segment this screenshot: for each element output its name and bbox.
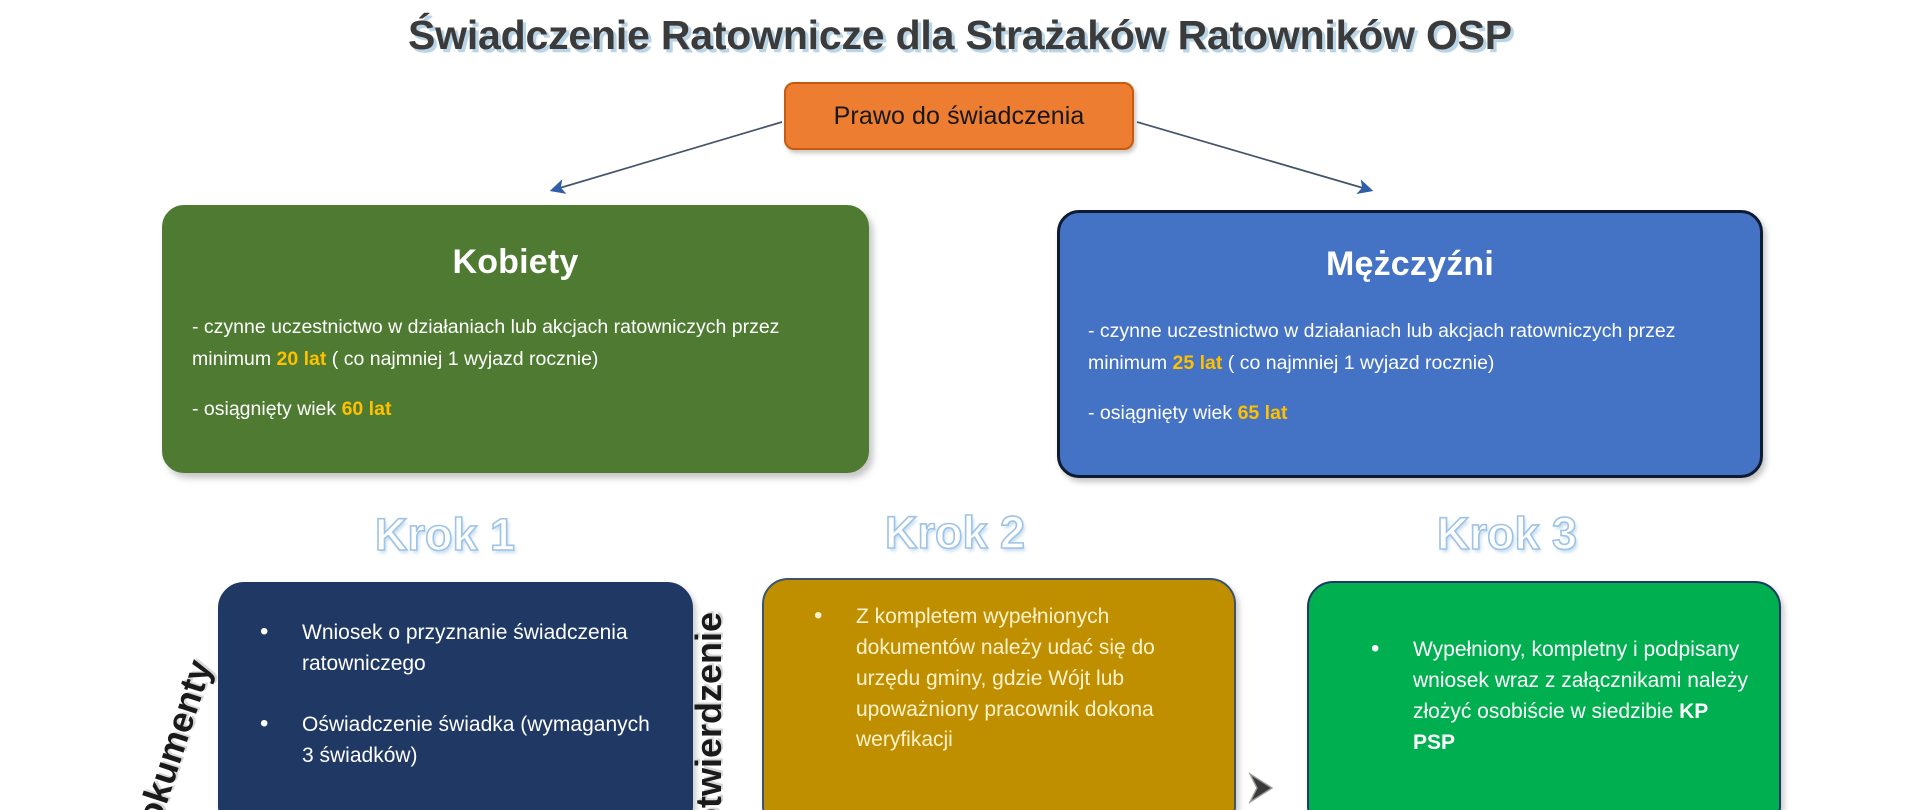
years-highlight: 25 lat [1173, 352, 1223, 374]
step-label-3: Krok 3 [1437, 508, 1577, 560]
card-men-requirement-age: - osiągnięty wiek 65 lat [1088, 398, 1732, 430]
card-women[interactable]: Kobiety - czynne uczestnictwo w działani… [162, 205, 869, 473]
list-item: Z kompletem wypełnionych dokumentów nale… [814, 602, 1208, 756]
step-card-2[interactable]: Z kompletem wypełnionych dokumentów nale… [762, 578, 1236, 810]
step-label-1: Krok 1 [375, 509, 515, 561]
arrow-to-women [553, 122, 782, 190]
list-item-text: Oświadczenie świadka (wymaganych 3 świad… [302, 713, 650, 767]
right-to-benefit-label: Prawo do świadczenia [834, 102, 1085, 131]
card-men-requirement-years: - czynne uczestnictwo w działaniach lub … [1088, 316, 1732, 379]
card-men-heading: Mężczyźni [1088, 245, 1732, 284]
page-title: Świadczenie Ratownicze dla Strażaków Rat… [0, 12, 1920, 59]
right-to-benefit-node[interactable]: Prawo do świadczenia [784, 82, 1134, 150]
side-caption-confirmation: Potwierdzenie [688, 612, 730, 810]
chevron-right-icon [1246, 766, 1292, 810]
card-women-body: - czynne uczestnictwo w działaniach lub … [192, 312, 839, 426]
text-suffix: ( co najmniej 1 wyjazd rocznie) [326, 348, 598, 370]
text-prefix: - osiągnięty wiek [1088, 402, 1238, 424]
step-label-2: Krok 2 [885, 507, 1025, 559]
card-men[interactable]: Mężczyźni - czynne uczestnictwo w działa… [1057, 210, 1763, 478]
list-item: Wniosek o przyznanie świadczenia ratowni… [260, 618, 657, 680]
age-highlight: 60 lat [342, 398, 392, 420]
slide-canvas: Świadczenie Ratownicze dla Strażaków Rat… [0, 0, 1920, 810]
list-item-text: Z kompletem wypełnionych dokumentów nale… [856, 605, 1155, 751]
card-men-body: - czynne uczestnictwo w działaniach lub … [1088, 316, 1732, 430]
years-highlight: 20 lat [277, 348, 327, 370]
list-item: Oświadczenie świadka (wymaganych 3 świad… [260, 710, 657, 772]
step-3-list: Wypełniony, kompletny i podpisany wniose… [1309, 583, 1779, 758]
card-women-heading: Kobiety [192, 243, 839, 282]
card-women-requirement-age: - osiągnięty wiek 60 lat [192, 394, 839, 426]
age-highlight: 65 lat [1238, 402, 1288, 424]
card-women-requirement-years: - czynne uczestnictwo w działaniach lub … [192, 312, 839, 375]
step-card-1[interactable]: Wniosek o przyznanie świadczenia ratowni… [218, 582, 693, 810]
list-item: Wypełniony, kompletny i podpisany wniose… [1371, 635, 1749, 758]
step-2-list: Z kompletem wypełnionych dokumentów nale… [764, 580, 1234, 756]
list-item-text: Wniosek o przyznanie świadczenia ratowni… [302, 621, 628, 675]
text-prefix: - osiągnięty wiek [192, 398, 342, 420]
side-caption-documents: Dokumenty [120, 655, 221, 810]
arrow-to-men [1137, 122, 1370, 190]
step-1-list: Wniosek o przyznanie świadczenia ratowni… [220, 584, 691, 771]
step-card-3[interactable]: Wypełniony, kompletny i podpisany wniose… [1307, 581, 1781, 810]
text-suffix: ( co najmniej 1 wyjazd rocznie) [1222, 352, 1494, 374]
